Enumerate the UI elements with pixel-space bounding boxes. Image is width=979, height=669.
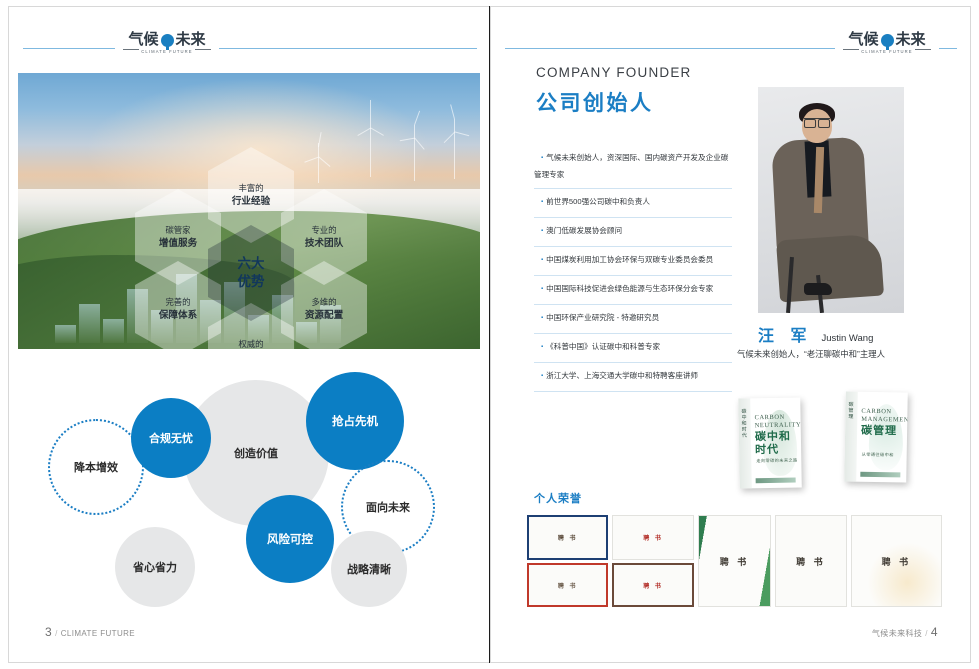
list-item: 澳门低碳发展协会顾问 [534, 218, 732, 247]
header-left: 气候 未来 CLIMATE FUTURE [9, 31, 489, 65]
certificates-gallery: 聘 书 聘 书 聘 书 聘 书 聘 书 聘 书 聘 书 [527, 515, 942, 607]
hex-line1: 权威的 [238, 337, 263, 349]
book-spine-title: 碳中和时代 [740, 408, 748, 438]
book-spine-title: 碳管理 [847, 401, 854, 419]
founder-name-row: 汪 军 Justin Wang [758, 322, 873, 346]
logo-text-part2: 未来 [176, 31, 206, 48]
certificate-column: 聘 书 聘 书 [612, 515, 693, 607]
logo-text-part1: 气候 [128, 31, 158, 48]
certificate-title: 聘 书 [882, 555, 912, 568]
footer-right: 气候未来科技/4 [872, 625, 938, 639]
book-subtitle: 从零通往碳中和 [862, 452, 894, 459]
book-spine: 碳管理 [844, 391, 858, 481]
header-rule-right [939, 48, 957, 49]
certificate-title: 聘 书 [643, 581, 663, 590]
hex-line1: 完善的 [165, 295, 190, 309]
certificate-thumb[interactable]: 聘 书 [612, 515, 693, 560]
page-left: 气候 未来 CLIMATE FUTURE [8, 6, 490, 663]
credential-text: 澳门低碳发展协会顾问 [534, 223, 732, 240]
credential-text: 《科普中国》认证碳中和科普专家 [534, 339, 732, 356]
hex-line1: 专业的 [311, 223, 336, 237]
book-cover-carbon-neutrality: 碳中和时代 CARBONNEUTRALITY 碳中和时代 走向零碳的未来之路 [738, 397, 802, 488]
credential-text: 中国煤炭利用加工协会环保与双碳专业委员会委员 [534, 252, 732, 269]
list-item: 《科普中国》认证碳中和科普专家 [534, 334, 732, 363]
wind-turbine-icon [414, 125, 415, 181]
hexagon-diagram: 丰富的 行业经验 专业的 技术团队 多维的 资源配置 权威的 生态伙伴 完善的 [126, 147, 376, 347]
page-number: 4 [931, 625, 938, 639]
book-latin-title: CARBONNEUTRALITY [754, 413, 801, 430]
certificate-title: 聘 书 [643, 533, 663, 542]
header-rule-right [219, 48, 477, 49]
section-eyebrow: COMPANY FOUNDER [536, 65, 692, 80]
credential-text: 浙江大学、上海交通大学碳中和特聘客座讲师 [534, 368, 732, 385]
logo-right: 气候 未来 CLIMATE FUTURE [839, 31, 935, 65]
footer-label: 气候未来科技 [872, 629, 922, 638]
certificate-thumb[interactable]: 聘 书 [527, 515, 608, 560]
footer-left: 3/CLIMATE FUTURE [45, 625, 135, 639]
hex-center-line1: 六大 [238, 255, 265, 273]
published-books: 碳中和时代 CARBONNEUTRALITY 碳中和时代 走向零碳的未来之路 碳… [739, 392, 949, 497]
bubble-compliance[interactable]: 合规无忧 [131, 398, 211, 478]
bubble-label: 创造价值 [234, 445, 278, 461]
certificate-thumb[interactable]: 聘 书 [698, 515, 771, 607]
certificate-title: 聘 书 [720, 555, 750, 568]
credential-text: 中国国际科技促进会绿色能源与生态环保分会专家 [534, 281, 732, 298]
certificate-thumb[interactable]: 聘 书 [851, 515, 942, 607]
certificate-thumb[interactable]: 聘 书 [612, 563, 693, 607]
credential-text: 中国环保产业研究院 - 特邀研究员 [534, 310, 732, 327]
hex-line1: 多维的 [311, 295, 336, 309]
founder-portrait [758, 87, 904, 313]
hex-line1: 碳管家 [165, 223, 190, 237]
bubble-label: 战略清晰 [347, 561, 391, 577]
founder-credentials-list: 气候未来创始人，资深国际、国内碳资产开发及企业碳管理专家 前世界500强公司碳中… [534, 145, 732, 392]
list-item: 前世界500强公司碳中和负责人 [534, 189, 732, 218]
certificate-thumb[interactable]: 聘 书 [527, 563, 608, 607]
logo-text-part2: 未来 [896, 31, 926, 48]
credential-text: 前世界500强公司碳中和负责人 [534, 194, 732, 211]
logo-wordmark: 气候 未来 [119, 31, 215, 48]
hex-center-line2: 优势 [238, 273, 265, 291]
bubble-label: 风险可控 [267, 531, 313, 547]
header-rule-left [505, 48, 835, 49]
certificate-thumb[interactable]: 聘 书 [775, 515, 846, 607]
hex-line1: 丰富的 [238, 181, 263, 195]
honors-heading: 个人荣誉 [534, 490, 582, 506]
list-item: 气候未来创始人，资深国际、国内碳资产开发及企业碳管理专家 [534, 145, 732, 189]
bubble-cost-efficiency[interactable]: 降本增效 [48, 419, 144, 515]
page-title: 公司创始人 [536, 87, 654, 117]
founder-name-en: Justin Wang [821, 333, 873, 344]
founder-description: 气候未来创始人，“老汪聊碳中和”主理人 [737, 348, 885, 360]
globe-icon [881, 34, 894, 47]
portrait-shoe [804, 283, 832, 295]
book-title-cn: 碳管理 [861, 425, 897, 439]
bubble-effortless[interactable]: 省心省力 [115, 527, 195, 607]
book-spine: 碳中和时代 [738, 398, 752, 488]
glasses-icon [804, 118, 830, 125]
header-rule-left [23, 48, 115, 49]
list-item: 中国煤炭利用加工协会环保与双碳专业委员会委员 [534, 247, 732, 276]
bubble-label: 合规无忧 [149, 430, 193, 446]
footer-separator: / [55, 629, 58, 638]
book-title-cn: 碳中和时代 [755, 430, 801, 457]
certificate-title: 聘 书 [796, 555, 826, 568]
bubble-first-mover[interactable]: 抢占先机 [306, 372, 404, 470]
bubble-clear-strategy[interactable]: 战略清晰 [331, 531, 407, 607]
page-number: 3 [45, 625, 52, 639]
globe-icon [161, 34, 174, 47]
bubble-risk-control[interactable]: 风险可控 [246, 495, 334, 583]
certificate-title: 聘 书 [558, 581, 578, 590]
hex-line2: 行业经验 [232, 195, 270, 209]
list-item: 中国环保产业研究院 - 特邀研究员 [534, 305, 732, 334]
spread-gutter [489, 6, 490, 663]
credential-text: 气候未来创始人，资深国际、国内碳资产开发及企业碳管理专家 [534, 150, 732, 182]
bubble-label: 省心省力 [133, 559, 177, 575]
hero-image: 丰富的 行业经验 专业的 技术团队 多维的 资源配置 权威的 生态伙伴 完善的 [18, 73, 480, 349]
hex-line2: 增值服务 [159, 237, 197, 251]
book-publisher-bar [860, 472, 900, 478]
hex-line2: 资源配置 [305, 309, 343, 323]
book-subtitle: 走向零碳的未来之路 [756, 458, 797, 465]
certificate-column: 聘 书 聘 书 [527, 515, 608, 607]
book-publisher-bar [756, 478, 796, 484]
book-cover-carbon-management: 碳管理 CARBONMANAGEMENT 碳管理 从零通往碳中和 [844, 391, 908, 482]
list-item: 浙江大学、上海交通大学碳中和特聘客座讲师 [534, 363, 732, 392]
founder-name-cn: 汪 军 [758, 322, 812, 346]
page-right: 气候 未来 CLIMATE FUTURE COMPANY FOUNDER 公司创… [490, 6, 971, 663]
hex-line2: 保障体系 [159, 309, 197, 323]
footer-separator: / [925, 629, 928, 638]
brochure-spread: 气候 未来 CLIMATE FUTURE [0, 0, 979, 669]
bubble-label: 降本增效 [74, 459, 118, 475]
logo-left: 气候 未来 CLIMATE FUTURE [119, 31, 215, 65]
logo-text-part1: 气候 [848, 31, 878, 48]
footer-label: CLIMATE FUTURE [61, 629, 135, 638]
list-item: 中国国际科技促进会绿色能源与生态环保分会专家 [534, 276, 732, 305]
header-right: 气候 未来 CLIMATE FUTURE [491, 31, 970, 65]
bubble-diagram: 创造价值 降本增效 合规无忧 抢占先机 面向未来 风险可控 省心省力 战略清晰 [18, 367, 480, 617]
hex-line2: 技术团队 [305, 237, 343, 251]
bubble-label: 抢占先机 [332, 413, 378, 429]
bubble-label: 面向未来 [366, 499, 410, 515]
certificate-title: 聘 书 [558, 533, 578, 542]
book-latin-title: CARBONMANAGEMENT [861, 408, 908, 425]
wind-turbine-icon [454, 119, 455, 179]
logo-wordmark: 气候 未来 [839, 31, 935, 48]
